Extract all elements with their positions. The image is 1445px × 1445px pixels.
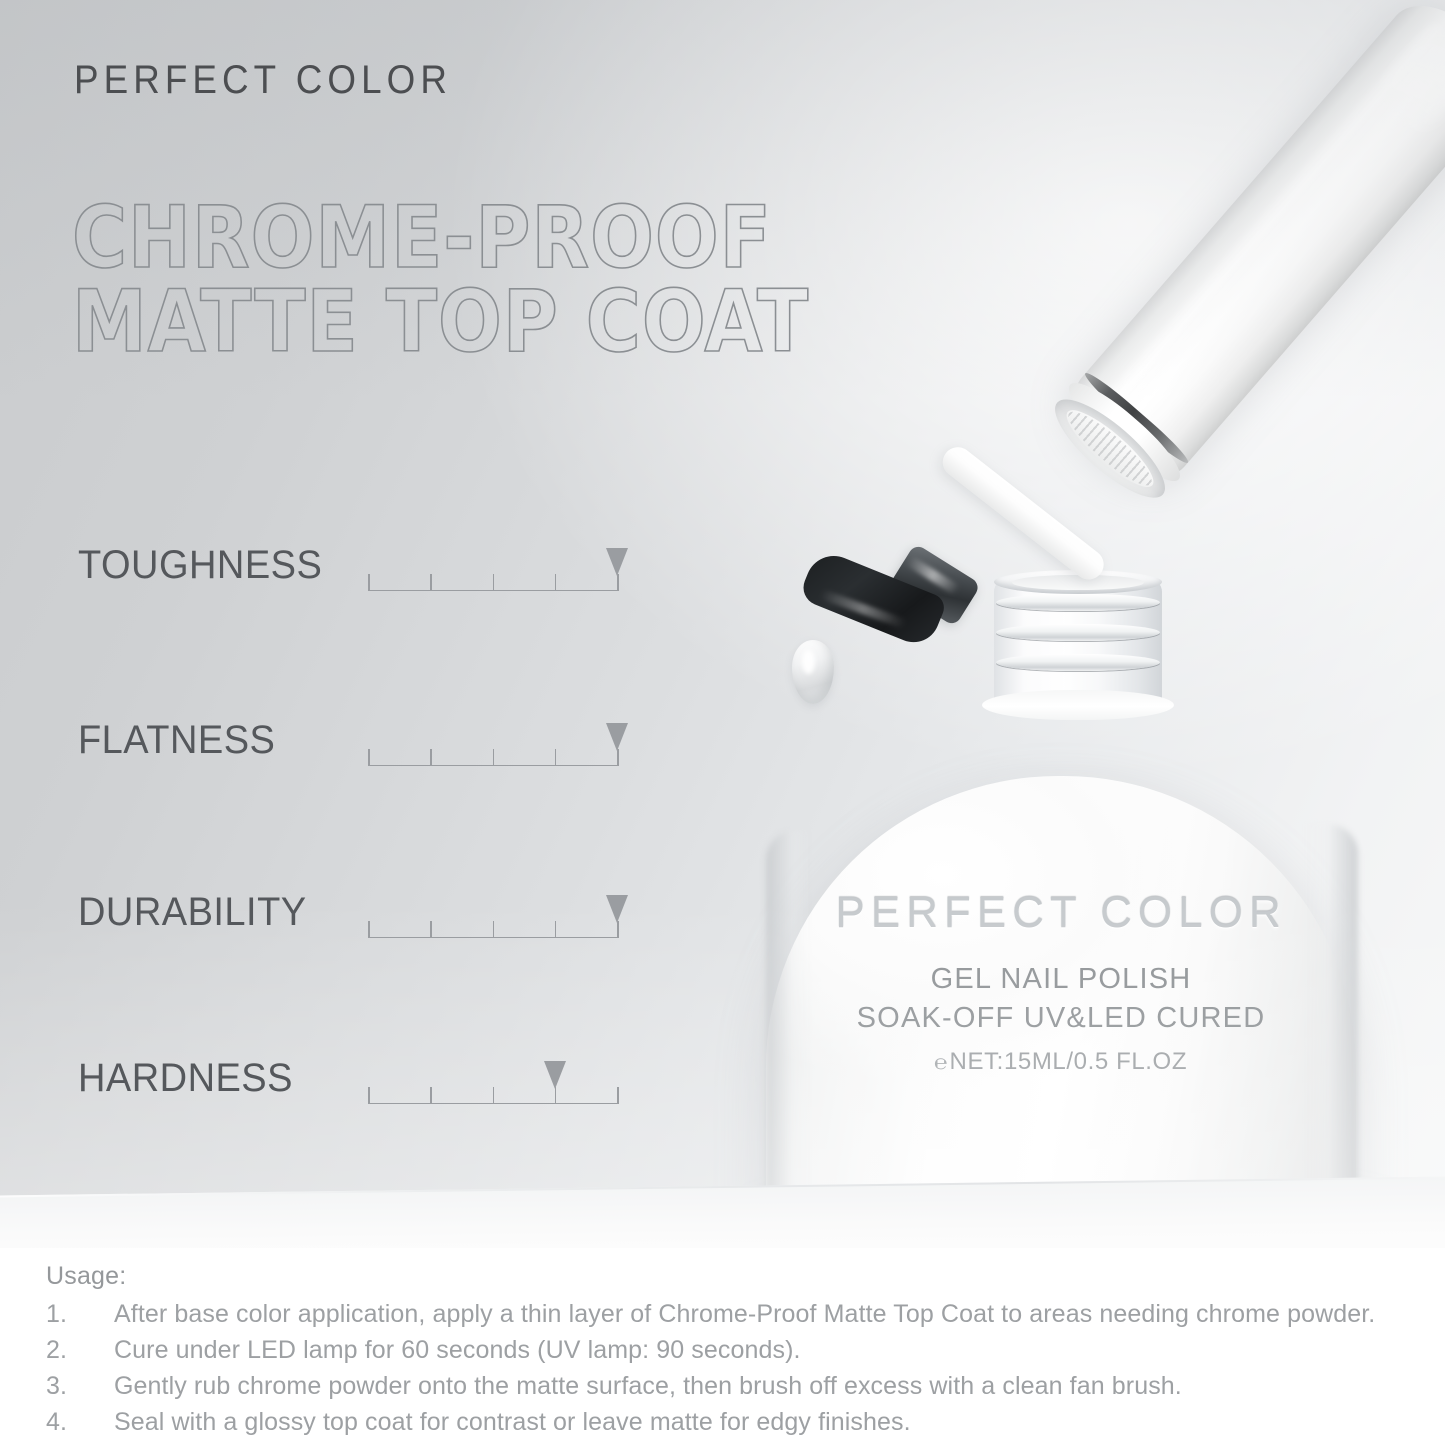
page-brand-title: PERFECT COLOR	[74, 58, 452, 103]
attribute-label: TOUGHNESS	[78, 543, 322, 587]
usage-step-number: 2.	[46, 1336, 114, 1365]
scale-marker[interactable]	[544, 1061, 566, 1089]
headline-line-1: CHROME-PROOF	[72, 196, 809, 280]
usage-step: 3.Gently rub chrome powder onto the matt…	[46, 1372, 1182, 1401]
scale-tick	[368, 574, 370, 591]
scale-tick	[493, 574, 495, 591]
page-headline: CHROME-PROOF MATTE TOP COAT	[72, 196, 809, 364]
attribute-row-flatness: FLATNESS	[0, 718, 700, 798]
attribute-scale[interactable]	[368, 557, 617, 591]
bottle-body	[766, 776, 1356, 1222]
scale-marker[interactable]	[606, 548, 628, 576]
scale-tick	[368, 921, 370, 938]
hero-section: PERFECT COLOR GEL NAIL POLISH SOAK-OFF U…	[0, 0, 1445, 1248]
attribute-row-toughness: TOUGHNESS	[0, 543, 700, 623]
usage-step-text: Gently rub chrome powder onto the matte …	[114, 1372, 1182, 1400]
scale-tick	[555, 1087, 557, 1104]
scale-tick	[368, 1087, 370, 1104]
usage-step-number: 4.	[46, 1408, 114, 1437]
scale-tick	[555, 749, 557, 766]
attribute-label: FLATNESS	[78, 718, 275, 762]
net-volume-text: NET:15ML/0.5 FL.OZ	[950, 1048, 1188, 1075]
usage-step: 2.Cure under LED lamp for 60 seconds (UV…	[46, 1336, 801, 1365]
scale-tick	[430, 921, 432, 938]
scale-tick	[493, 749, 495, 766]
usage-step-number: 1.	[46, 1300, 114, 1329]
usage-step: 4.Seal with a glossy top coat for contra…	[46, 1408, 911, 1437]
attribute-scale[interactable]	[368, 904, 617, 938]
usage-title: Usage:	[46, 1262, 126, 1291]
usage-panel: Usage: 1.After base color application, a…	[0, 1248, 1445, 1445]
bottle-label-net-volume: ℮NET:15ML/0.5 FL.OZ	[766, 1048, 1356, 1076]
usage-step: 1.After base color application, apply a …	[46, 1300, 1375, 1329]
usage-step-number: 3.	[46, 1372, 114, 1401]
product-infographic: PERFECT COLOR GEL NAIL POLISH SOAK-OFF U…	[0, 0, 1445, 1445]
scale-tick	[430, 574, 432, 591]
scale-tick	[493, 1087, 495, 1104]
brush-handle	[937, 441, 1110, 585]
scale-tick	[617, 749, 619, 766]
estimated-sign-icon: ℮	[934, 1052, 949, 1075]
usage-step-text: Seal with a glossy top coat for contrast…	[114, 1408, 911, 1436]
attribute-row-hardness: HARDNESS	[0, 1056, 700, 1136]
scale-tick	[617, 574, 619, 591]
attribute-label: HARDNESS	[78, 1056, 293, 1100]
scale-tick	[617, 1087, 619, 1104]
scale-tick	[555, 921, 557, 938]
usage-step-text: Cure under LED lamp for 60 seconds (UV l…	[114, 1336, 801, 1364]
attribute-scale[interactable]	[368, 732, 617, 766]
applicator-brush	[778, 452, 1138, 782]
attribute-scale[interactable]	[368, 1070, 617, 1104]
scale-marker[interactable]	[606, 895, 628, 923]
scale-marker[interactable]	[606, 723, 628, 751]
usage-step-text: After base color application, apply a th…	[114, 1300, 1375, 1328]
attribute-label: DURABILITY	[78, 890, 307, 934]
scale-tick	[555, 574, 557, 591]
polish-droplet	[792, 640, 834, 704]
attribute-row-durability: DURABILITY	[0, 890, 700, 970]
scale-tick	[430, 749, 432, 766]
bottle-label-curing-info: SOAK-OFF UV&LED CURED	[766, 1002, 1356, 1035]
scale-tick	[617, 921, 619, 938]
scale-tick	[368, 749, 370, 766]
scale-tick	[493, 921, 495, 938]
bottle-label-brand: PERFECT COLOR	[766, 888, 1356, 938]
bottle-label-product-type: GEL NAIL POLISH	[766, 963, 1356, 996]
scale-tick	[430, 1087, 432, 1104]
polish-droplet-highlight	[802, 650, 815, 674]
headline-line-2: MATTE TOP COAT	[72, 280, 809, 364]
